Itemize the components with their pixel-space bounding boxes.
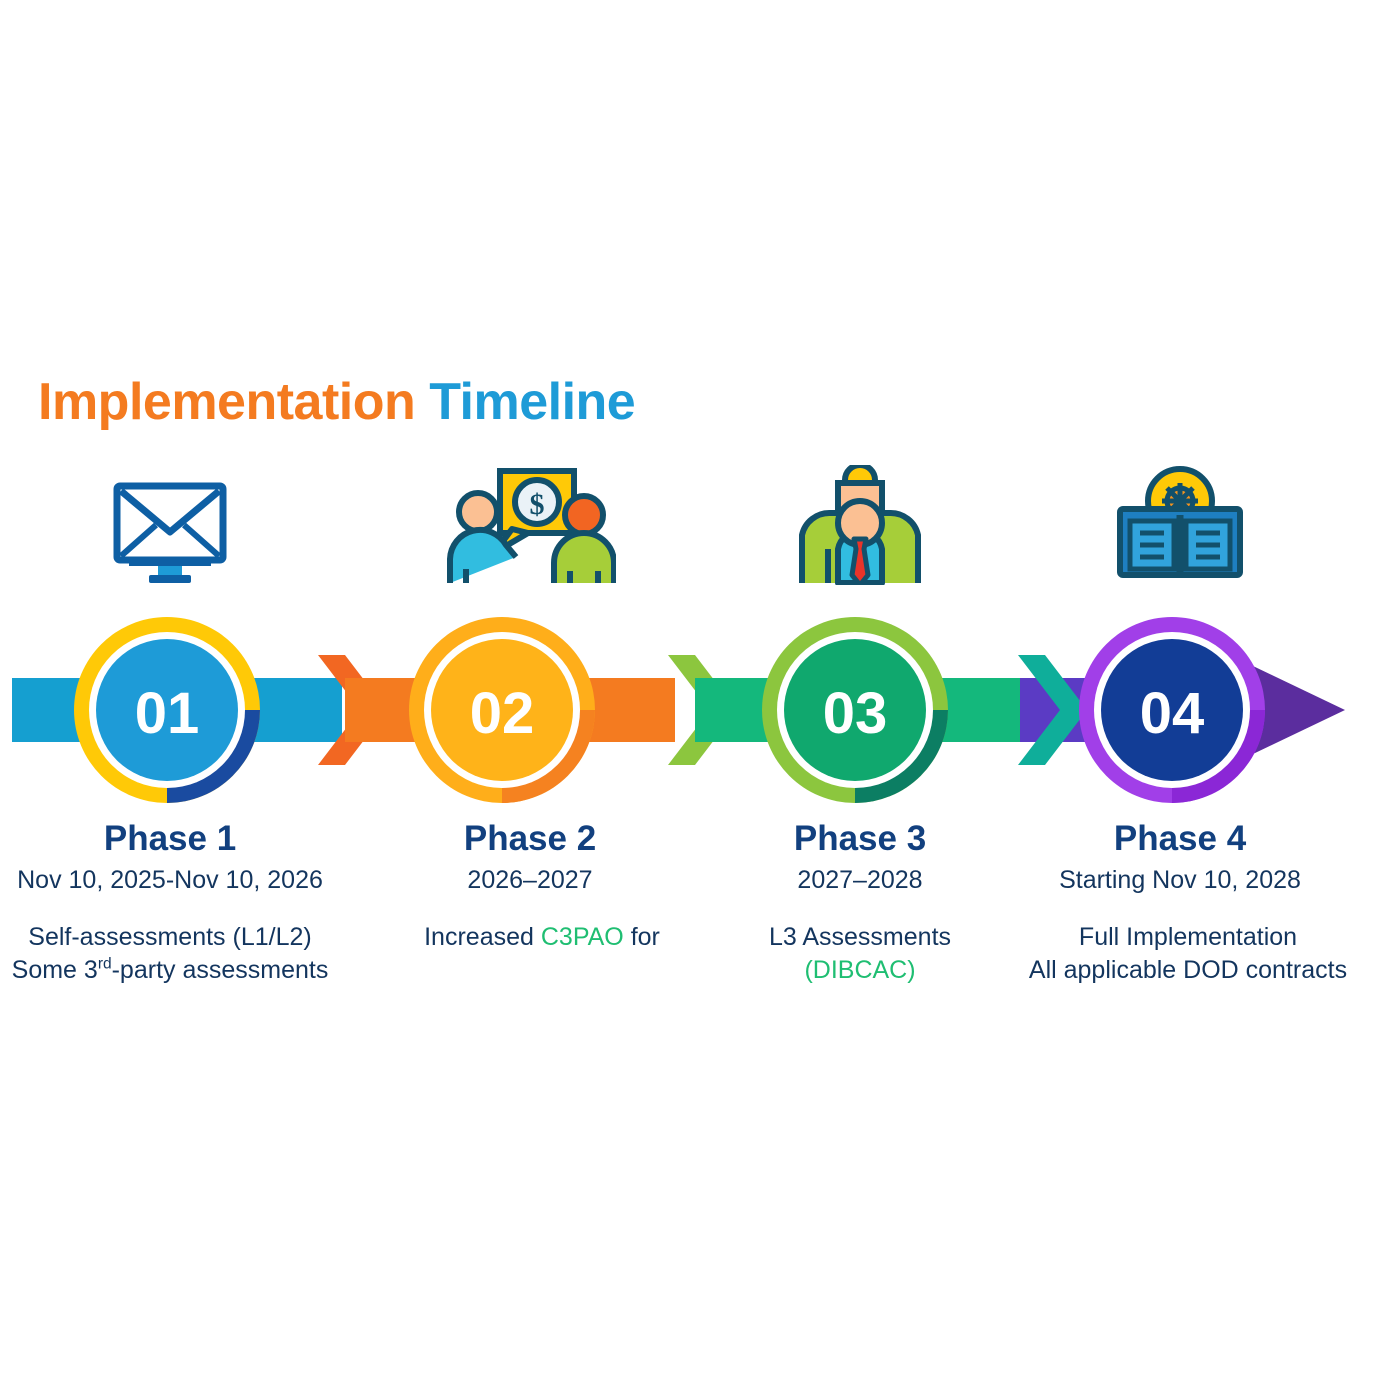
phase-2-description: Increased C3PAO for [362,921,722,955]
phase-2-icon-wrap: $ [350,460,710,585]
phase-3-description: L3 Assessments (DIBCAC) [680,921,1040,989]
phase-3-circle-spacer [680,585,1040,815]
phase-2-dates: 2026–2027 [350,866,710,895]
phase-2-desc-highlight: C3PAO [541,923,624,951]
page-title: Implementation Timeline [38,372,635,432]
phase-1-dates: Nov 10, 2025-Nov 10, 2026 [0,866,350,895]
people-money-discussion-icon: $ [444,467,616,585]
phase-2-title: Phase 2 [350,821,710,858]
phase-3-icon-wrap [680,460,1040,585]
page-title-main: Implementation [38,373,415,431]
phase-1-desc-line-2-pre: Some 3 [12,956,98,984]
monitor-email-icon [111,480,229,585]
phase-4-dates: Starting Nov 10, 2028 [1000,866,1360,895]
phase-1-desc-line-2-sup: rd [98,956,112,973]
phase-2-desc-line-1: Increased C3PAO for [362,921,722,955]
phase-column-1: Phase 1 Nov 10, 2025-Nov 10, 2026 Self-a… [0,460,350,988]
phase-4-title: Phase 4 [1000,821,1360,858]
phase-1-description: Self-assessments (L1/L2) Some 3rd-party … [0,921,350,989]
phase-1-desc-line-1: Self-assessments (L1/L2) [0,921,350,955]
infographic-canvas: Implementation Timeline 01 [0,0,1400,1400]
phase-1-circle-spacer [0,585,350,815]
phase-3-desc-line-1: L3 Assessments [680,921,1040,955]
book-gear-idea-icon [1116,465,1244,585]
phase-4-description: Full Implementation All applicable DOD c… [1008,921,1368,989]
phase-1-title: Phase 1 [0,821,350,858]
phase-4-desc-line-2: All applicable DOD contracts [1008,954,1368,988]
phase-1-desc-line-2: Some 3rd-party assessments [0,954,350,988]
businessperson-icon [794,465,926,585]
phase-1-desc-line-2-post: -party assessments [112,956,329,984]
phase-4-desc-line-1: Full Implementation [1008,921,1368,955]
phase-3-desc-line-2: (DIBCAC) [680,954,1040,988]
phase-column-3: Phase 3 2027–2028 L3 Assessments (DIBCAC… [680,460,1040,988]
phase-1-icon-wrap [0,460,350,585]
phase-4-icon-wrap [1000,460,1360,585]
phase-4-circle-spacer [1000,585,1360,815]
phase-column-2: $ Phase 2 2026–2027 Increased C3PAO for [350,460,710,954]
page-title-accent: Timeline [429,373,635,431]
phase-3-dates: 2027–2028 [680,866,1040,895]
phase-3-title: Phase 3 [680,821,1040,858]
phase-2-desc-post: for [624,923,660,951]
svg-text:$: $ [530,488,545,521]
phase-2-circle-spacer [350,585,710,815]
phase-column-4: Phase 4 Starting Nov 10, 2028 Full Imple… [1000,460,1360,988]
phase-2-desc-pre: Increased [424,923,541,951]
